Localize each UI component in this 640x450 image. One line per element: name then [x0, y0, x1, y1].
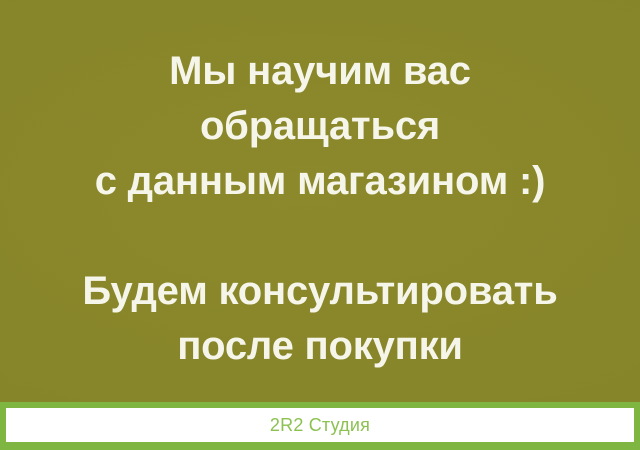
headline-line-1: Мы научим вас — [0, 44, 640, 99]
headline-blank-line — [0, 209, 640, 264]
headline-text-block: Мы научим вас обращаться с данным магази… — [0, 44, 640, 374]
headline-line-3: с данным магазином :) — [0, 154, 640, 209]
headline-line-2: обращаться — [0, 99, 640, 154]
studio-credit-label: 2R2 Студия — [270, 415, 370, 436]
headline-line-5: Будем консультировать — [0, 264, 640, 319]
footer-plate: 2R2 Студия — [6, 408, 634, 442]
footer-band: 2R2 Студия — [0, 402, 640, 450]
promo-slide: Мы научим вас обращаться с данным магази… — [0, 0, 640, 450]
headline-line-6: после покупки — [0, 319, 640, 374]
